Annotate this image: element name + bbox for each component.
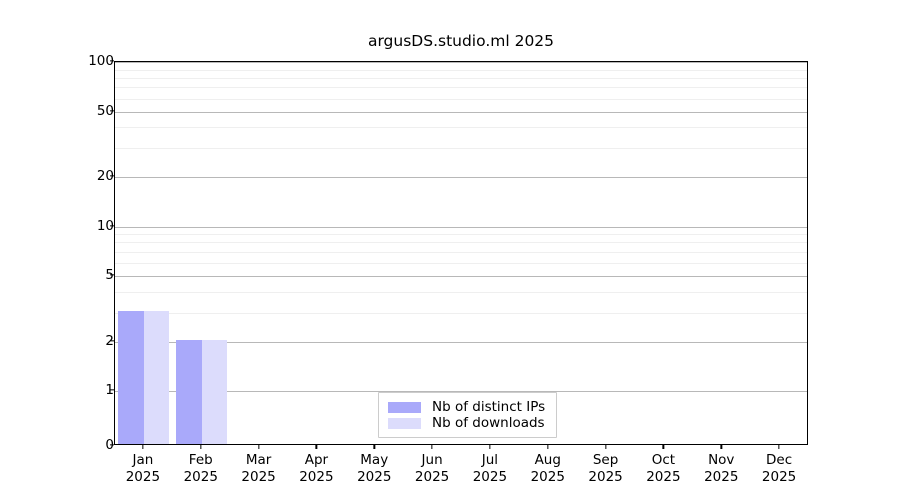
x-axis-tick-mark (489, 445, 490, 449)
y-axis-tick-label: 100 (74, 53, 114, 69)
y-axis: 0125102050100 (68, 61, 114, 445)
gridline-minor (115, 234, 807, 235)
y-axis-tick-label: 0 (74, 437, 114, 453)
y-axis-tick-label: 20 (74, 168, 114, 184)
gridline-major (115, 177, 807, 178)
gridline-minor (115, 87, 807, 88)
legend-label-downloads: Nb of downloads (432, 415, 545, 431)
legend-item-downloads: Nb of downloads (388, 415, 547, 431)
gridline-minor (115, 99, 807, 100)
x-axis-tick-mark (258, 445, 259, 449)
bar-feb-distinct-ips (176, 340, 201, 444)
gridline-minor (115, 70, 807, 71)
chart-figure: argusDS.studio.ml 2025 0125102050100 Jan… (0, 0, 900, 500)
x-axis-tick-label: Dec2025 (744, 452, 814, 486)
x-axis-tick-label-month: Dec (744, 452, 814, 469)
x-axis: Jan2025Feb2025Mar2025Apr2025May2025Jun20… (114, 445, 808, 500)
y-axis-tick-label: 10 (74, 218, 114, 234)
x-axis-tick-mark (778, 445, 779, 449)
gridline-minor (115, 292, 807, 293)
x-axis-tick-mark (431, 445, 432, 449)
gridline-major (115, 62, 807, 63)
gridline-minor (115, 252, 807, 253)
x-axis-tick-mark (142, 445, 143, 449)
x-axis-tick-mark (663, 445, 664, 449)
bar-feb-downloads (202, 340, 227, 444)
gridline-major (115, 112, 807, 113)
gridline-minor (115, 263, 807, 264)
y-axis-tick-label: 5 (74, 267, 114, 283)
legend-item-distinct-ips: Nb of distinct IPs (388, 399, 547, 415)
legend-label-distinct-ips: Nb of distinct IPs (432, 399, 545, 415)
gridline-minor (115, 313, 807, 314)
bar-jan-distinct-ips (118, 311, 143, 444)
gridline-minor (115, 127, 807, 128)
x-axis-tick-mark (547, 445, 548, 449)
y-axis-tick-label: 50 (74, 103, 114, 119)
gridline-minor (115, 242, 807, 243)
legend-swatch-icon-distinct-ips (388, 402, 421, 413)
x-axis-tick-mark (721, 445, 722, 449)
gridline-major (115, 276, 807, 277)
x-axis-tick-mark (316, 445, 317, 449)
y-axis-tick-label: 2 (74, 333, 114, 349)
gridline-major (115, 227, 807, 228)
chart-title: argusDS.studio.ml 2025 (114, 32, 808, 50)
plot-area (114, 61, 808, 445)
gridline-minor (115, 78, 807, 79)
x-axis-tick-label-year: 2025 (744, 469, 814, 486)
x-axis-tick-mark (605, 445, 606, 449)
y-axis-tick-label: 1 (74, 382, 114, 398)
bar-jan-downloads (144, 311, 169, 444)
x-axis-tick-mark (200, 445, 201, 449)
x-axis-tick-mark (374, 445, 375, 449)
gridline-minor (115, 148, 807, 149)
legend-swatch-icon-downloads (388, 418, 421, 429)
chart-legend: Nb of distinct IPs Nb of downloads (378, 392, 557, 438)
